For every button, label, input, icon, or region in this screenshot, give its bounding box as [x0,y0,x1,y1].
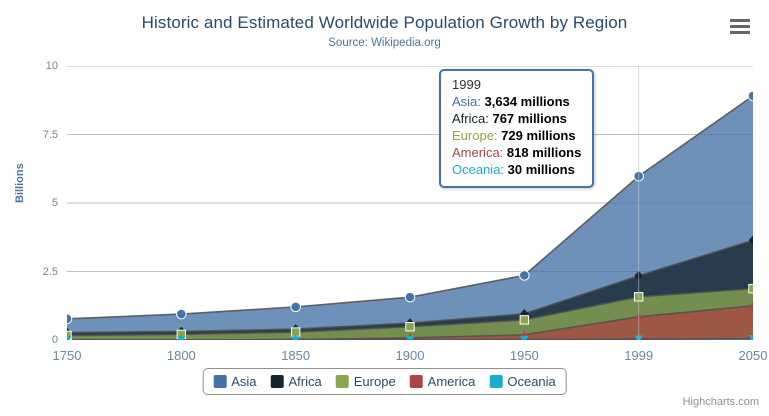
tooltip-series-value: 30 millions [508,162,575,177]
legend-item-africa[interactable]: Africa [271,374,322,389]
legend-item-label: Europe [354,374,396,389]
menu-bar [730,19,750,22]
y-axis-tick-label: 2.5 [14,266,58,278]
tooltip-series-name: Oceania: [452,162,508,177]
y-axis-tick-label: 5 [14,197,58,209]
y-axis-tick-label: 0 [14,334,58,346]
chart-container: Historic and Estimated Worldwide Populat… [0,0,769,416]
credits-link[interactable]: Highcharts.com [683,396,759,408]
tooltip-series-name: America: [452,145,507,160]
series-svg [67,66,753,340]
hamburger-menu-icon[interactable] [727,16,753,38]
tooltip-series-name: Africa: [452,111,492,126]
plot-area [67,66,753,340]
x-axis-tick-label: 1900 [375,348,445,363]
legend-item-label: Oceania [507,374,555,389]
x-axis-tick-label: 1850 [261,348,331,363]
legend-swatch-icon [336,375,349,388]
chart-subtitle: Source: Wikipedia.org [0,37,769,49]
x-axis-tick-label: 1950 [489,348,559,363]
tooltip-series-value: 767 millions [492,111,566,126]
y-axis-tick-label: 7.5 [14,129,58,141]
legend-swatch-icon [213,375,226,388]
legend: AsiaAfricaEuropeAmericaOceania [202,368,567,395]
tooltip-row: Asia: 3,634 millions [452,93,581,110]
tooltip-row: Africa: 767 millions [452,110,581,127]
tooltip: 1999 Asia: 3,634 millionsAfrica: 767 mil… [439,69,594,188]
legend-swatch-icon [410,375,423,388]
tooltip-row: America: 818 millions [452,144,581,161]
legend-item-europe[interactable]: Europe [336,374,396,389]
tooltip-header: 1999 [452,77,581,92]
legend-item-oceania[interactable]: Oceania [489,374,555,389]
tooltip-series-name: Asia: [452,94,485,109]
legend-item-label: America [428,374,476,389]
legend-swatch-icon [489,375,502,388]
legend-item-label: Africa [289,374,322,389]
legend-swatch-icon [271,375,284,388]
tooltip-series-value: 3,634 millions [485,94,570,109]
chart-title: Historic and Estimated Worldwide Populat… [0,13,769,33]
menu-bar [730,31,750,34]
menu-bar [730,25,750,28]
tooltip-series-name: Europe: [452,128,501,143]
x-axis-tick-label: 2050 [718,348,769,363]
legend-item-label: Asia [231,374,256,389]
tooltip-row: Europe: 729 millions [452,127,581,144]
x-axis-tick-label: 1999 [604,348,674,363]
x-axis-tick-label: 1800 [146,348,216,363]
x-axis-tick-label: 1750 [32,348,102,363]
tooltip-series-value: 729 millions [501,128,575,143]
tooltip-rows: Asia: 3,634 millionsAfrica: 767 millions… [452,93,581,178]
legend-item-asia[interactable]: Asia [213,374,256,389]
y-axis-tick-label: 10 [14,60,58,72]
legend-item-america[interactable]: America [410,374,476,389]
tooltip-row: Oceania: 30 millions [452,161,581,178]
tooltip-series-value: 818 millions [507,145,581,160]
